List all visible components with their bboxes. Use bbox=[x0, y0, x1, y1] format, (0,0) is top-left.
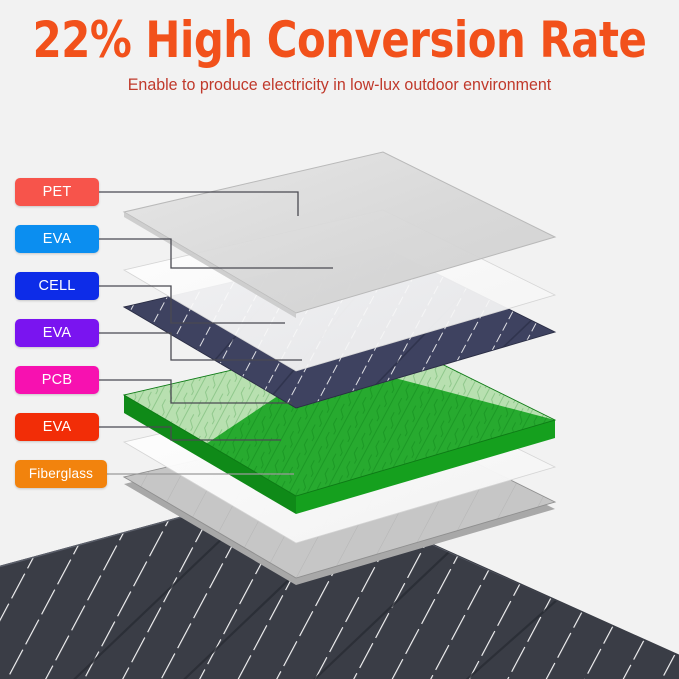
infographic-canvas: 22% High Conversion Rate Enable to produ… bbox=[0, 0, 679, 679]
layer-badge-label: EVA bbox=[43, 419, 72, 435]
layer-badge-cell[interactable]: CELL bbox=[15, 272, 99, 300]
page-subtitle: Enable to produce electricity in low-lux… bbox=[10, 74, 669, 96]
page-title: 22% High Conversion Rate bbox=[24, 12, 655, 68]
layer-badge-label: PET bbox=[43, 184, 72, 200]
exploded-solar-panel-artwork bbox=[0, 112, 679, 679]
layer-badge-label: Fiberglass bbox=[29, 466, 93, 481]
layer-badge-pet[interactable]: PET bbox=[15, 178, 99, 206]
layer-badge-label: EVA bbox=[43, 231, 72, 247]
layer-badge-fiberglass[interactable]: Fiberglass bbox=[15, 460, 107, 488]
layer-badge-label: EVA bbox=[43, 325, 72, 341]
layer-badge-label: PCB bbox=[42, 372, 72, 388]
layer-badge-eva-2[interactable]: EVA bbox=[15, 319, 99, 347]
layer-badge-pcb[interactable]: PCB bbox=[15, 366, 99, 394]
layer-badge-eva-3[interactable]: EVA bbox=[15, 413, 99, 441]
layer-badge-label: CELL bbox=[38, 278, 75, 294]
layer-badge-eva-1[interactable]: EVA bbox=[15, 225, 99, 253]
header: 22% High Conversion Rate Enable to produ… bbox=[0, 0, 679, 112]
